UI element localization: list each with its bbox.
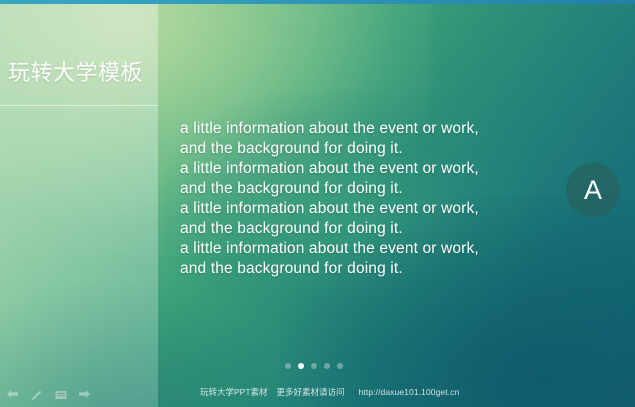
forward-arrow-icon[interactable] [78,388,91,401]
presentation-slide: 玩转大学模板 a little information about the ev… [0,0,635,407]
left-title-panel: 玩转大学模板 [0,4,158,407]
pagination-dot[interactable] [324,363,330,369]
title-divider [0,105,158,106]
pagination-dot-active[interactable] [298,363,304,369]
footer-caption: 玩转大学PPT素材 更多好素材请访问 http://daxue101.100ge… [200,386,459,398]
page-title: 玩转大学模板 [8,58,158,88]
footer-brand: 玩转大学PPT素材 [200,386,268,398]
pagination-dots[interactable] [285,363,343,369]
pagination-dot[interactable] [285,363,291,369]
avatar-letter: A [584,177,602,204]
footer-url[interactable]: http://daxue101.100get.cn [359,386,460,398]
body-line: and the background for doing it. [180,139,540,159]
body-line: and the background for doing it. [180,259,540,279]
back-arrow-icon[interactable] [6,388,19,401]
body-line: and the background for doing it. [180,179,540,199]
footer-tagline: 更多好素材请访问 [277,386,345,398]
bottom-toolbar[interactable] [6,388,91,401]
note-icon[interactable] [54,388,67,401]
body-line: a little information about the event or … [180,199,540,219]
avatar-badge[interactable]: A [566,163,620,217]
body-line: a little information about the event or … [180,239,540,259]
body-text-block: a little information about the event or … [180,119,540,279]
pagination-dot[interactable] [311,363,317,369]
body-line: a little information about the event or … [180,159,540,179]
pagination-dot[interactable] [337,363,343,369]
body-line: and the background for doing it. [180,219,540,239]
body-line: a little information about the event or … [180,119,540,139]
pencil-icon[interactable] [30,388,43,401]
